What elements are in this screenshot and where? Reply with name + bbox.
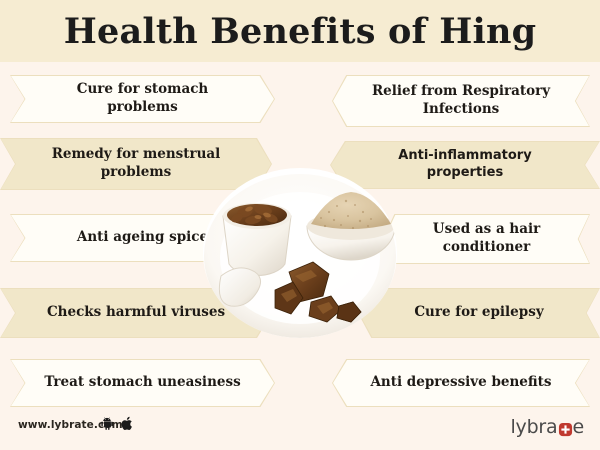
benefit-banner-left-5[interactable]: Treat stomach uneasiness [10,359,275,407]
brand-text-after: e [573,416,585,438]
benefit-label: Remedy for menstrual problems [0,138,272,190]
benefit-banner-right-1[interactable]: Relief from Respiratory Infections [332,75,590,127]
benefit-banner-right-5[interactable]: Anti depressive benefits [332,359,590,407]
page-title: Health Benefits of Hing [0,0,600,62]
android-icon[interactable] [100,417,114,431]
footer-app-icons [100,416,134,431]
benefit-label: Anti depressive benefits [332,359,590,407]
benefit-label: Cure for epilepsy [358,288,600,338]
benefit-banner-left-1[interactable]: Cure for stomach problems [10,75,275,123]
benefit-banner-right-3[interactable]: Used as a hair conditioner [383,214,590,264]
benefit-label: Cure for stomach problems [10,75,275,123]
hing-product-photo [203,168,397,338]
benefit-banner-right-4[interactable]: Cure for epilepsy [358,288,600,338]
benefit-label: Used as a hair conditioner [383,214,590,264]
benefit-label: Anti-inflammatory properties [330,141,600,189]
benefit-label: Treat stomach uneasiness [10,359,275,407]
benefit-banner-right-2[interactable]: Anti-inflammatory properties [330,141,600,189]
lybrate-logo[interactable]: lybra e [510,416,584,438]
benefit-banner-left-2[interactable]: Remedy for menstrual problems [0,138,272,190]
apple-icon[interactable] [121,416,134,431]
infographic-root: Health Benefits of Hing Cure for stomach… [0,0,600,450]
benefit-label: Relief from Respiratory Infections [332,75,590,127]
brand-text-before: lybra [510,416,557,438]
medical-cross-icon [558,422,573,437]
